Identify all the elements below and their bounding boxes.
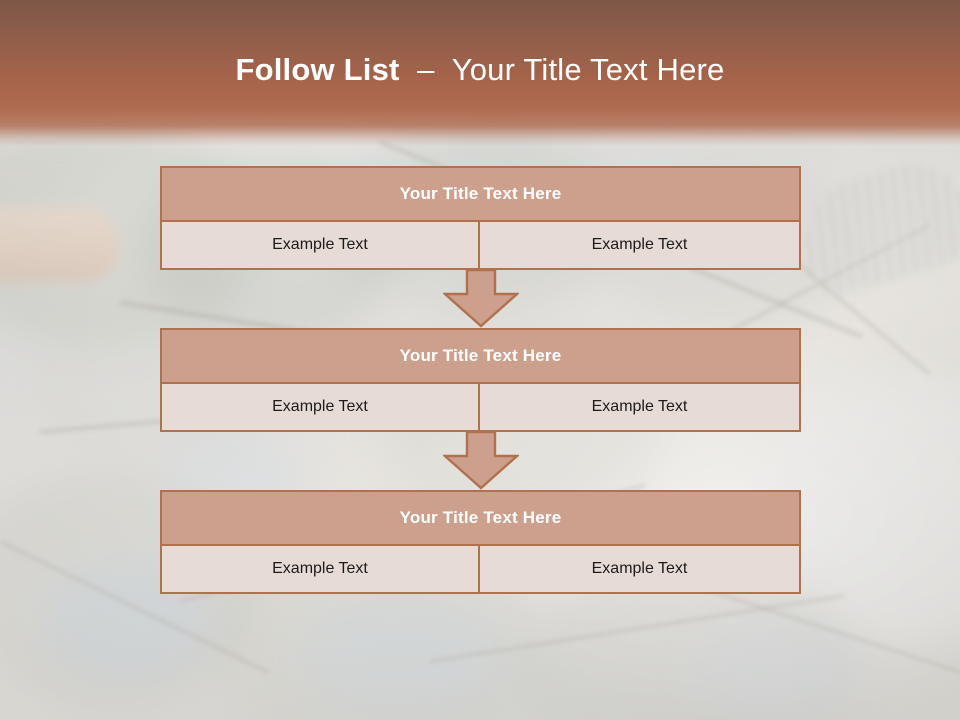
flow-group-2: Your Title Text Here Example Text Exampl… <box>160 328 801 432</box>
flow-group-3: Your Title Text Here Example Text Exampl… <box>160 490 801 594</box>
flow-connector-2 <box>160 432 801 490</box>
flow-group-3-title[interactable]: Your Title Text Here <box>160 490 801 546</box>
flow-group-2-cell-right[interactable]: Example Text <box>480 384 801 432</box>
slide-canvas: Follow List – Your Title Text Here Your … <box>0 0 960 720</box>
flow-group-3-cell-right[interactable]: Example Text <box>480 546 801 594</box>
flow-group-1-cell-right[interactable]: Example Text <box>480 222 801 270</box>
flow-group-1-cells: Example Text Example Text <box>160 222 801 270</box>
flow-group-2-title[interactable]: Your Title Text Here <box>160 328 801 384</box>
flow-group-1-title[interactable]: Your Title Text Here <box>160 166 801 222</box>
flow-group-1-cell-left[interactable]: Example Text <box>160 222 480 270</box>
flow-group-3-cell-left[interactable]: Example Text <box>160 546 480 594</box>
flow-group-2-cell-left[interactable]: Example Text <box>160 384 480 432</box>
flow-connector-1 <box>160 270 801 328</box>
flow-group-3-cells: Example Text Example Text <box>160 546 801 594</box>
follow-list-flow: Your Title Text Here Example Text Exampl… <box>160 166 801 594</box>
flow-group-2-cells: Example Text Example Text <box>160 384 801 432</box>
flow-group-1: Your Title Text Here Example Text Exampl… <box>160 166 801 270</box>
arrow-down-icon <box>443 270 519 328</box>
arrow-down-icon <box>443 432 519 490</box>
